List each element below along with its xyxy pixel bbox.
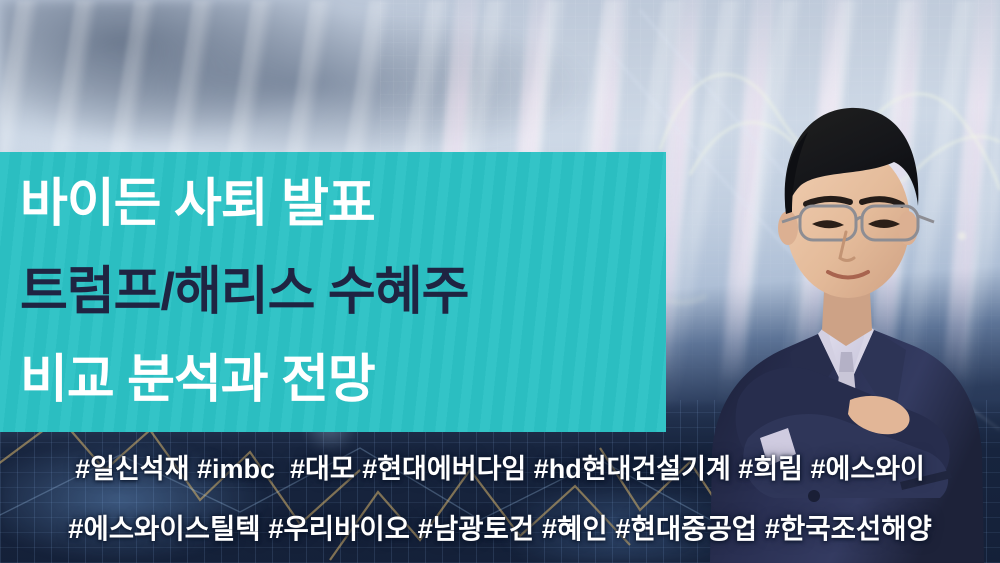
hashtag-line-1: #일신석재 #imbc #대모 #현대에버다임 #hd현대건설기계 #희림 #에… — [0, 440, 1000, 499]
title-line-1: 바이든 사퇴 발표 — [20, 160, 666, 248]
title-panel: 바이든 사퇴 발표 트럼프/해리스 수혜주 비교 분석과 전망 — [0, 152, 666, 432]
hashtag-line-2: #에스와이스틸텍 #우리바이오 #남광토건 #혜인 #현대중공업 #한국조선해양 — [0, 499, 1000, 558]
title-line-2: 트럼프/해리스 수혜주 — [20, 248, 666, 336]
thumbnail-canvas: 바이든 사퇴 발표 트럼프/해리스 수혜주 비교 분석과 전망 #일신석재 #i… — [0, 0, 1000, 563]
hashtag-block: #일신석재 #imbc #대모 #현대에버다임 #hd현대건설기계 #희림 #에… — [0, 440, 1000, 558]
title-line-3: 비교 분석과 전망 — [20, 336, 666, 424]
